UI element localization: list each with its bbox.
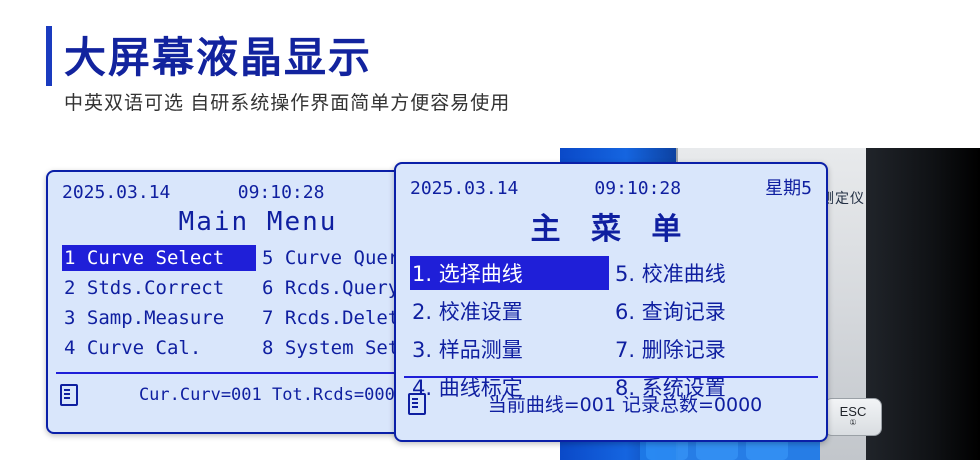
page-subtitle: 中英双语可选 自研系统操作界面简单方便容易使用 <box>64 88 510 115</box>
menu-heading-chinese: 主 菜 单 <box>410 204 812 248</box>
menu-item-calib-settings-cn[interactable]: 2. 校准设置 <box>410 294 609 328</box>
page-title: 大屏幕液晶显示 <box>64 24 372 85</box>
menu-item-sample-measure-cn[interactable]: 3. 样品测量 <box>410 332 609 366</box>
lcd-divider-chinese <box>404 376 818 378</box>
status-bar-chinese: 2025.03.14 09:10:28 星期5 <box>410 174 812 200</box>
menu-item-query-records-cn[interactable]: 6. 查询记录 <box>613 294 812 328</box>
status-footer-text-chinese: 当前曲线=001 记录总数=0000 <box>436 390 814 417</box>
menu-item-samp-measure[interactable]: 3 Samp.Measure <box>62 305 256 331</box>
menu-item-stds-correct[interactable]: 2 Stds.Correct <box>62 275 256 301</box>
records-icon-chinese <box>408 393 426 415</box>
records-icon <box>60 384 78 406</box>
title-accent-bar <box>46 26 52 86</box>
menu-item-curve-cal[interactable]: 4 Curve Cal. <box>62 335 256 361</box>
device-right-edge <box>866 148 980 460</box>
menu-item-delete-records-cn[interactable]: 7. 删除记录 <box>613 332 812 366</box>
status-date-english: 2025.03.14 <box>62 182 170 203</box>
status-footer-chinese: 当前曲线=001 记录总数=0000 <box>396 390 826 417</box>
status-time-english: 09:10:28 <box>238 182 325 203</box>
esc-button[interactable]: ESC ① <box>824 398 882 436</box>
esc-button-sublabel: ① <box>825 419 881 427</box>
lcd-screen-chinese[interactable]: 2025.03.14 09:10:28 星期5 主 菜 单 1. 选择曲线 5.… <box>394 162 828 442</box>
menu-item-calib-curve-cn[interactable]: 5. 校准曲线 <box>613 256 812 290</box>
esc-button-label: ESC <box>840 404 867 419</box>
device-photo: 测定仪 线录置 0000 ESC ① 2025.03.14 09:10:28 w… <box>0 148 980 460</box>
status-weekday-chinese: 星期5 <box>765 174 812 200</box>
menu-item-curve-select[interactable]: 1 Curve Select <box>62 245 256 271</box>
menu-list-chinese: 1. 选择曲线 5. 校准曲线 2. 校准设置 6. 查询记录 3. 样品测量 … <box>410 256 812 404</box>
page-header: 大屏幕液晶显示 中英双语可选 自研系统操作界面简单方便容易使用 <box>0 0 980 150</box>
menu-item-select-curve-cn[interactable]: 1. 选择曲线 <box>410 256 609 290</box>
status-time-chinese: 09:10:28 <box>594 178 681 199</box>
status-date-chinese: 2025.03.14 <box>410 178 518 199</box>
